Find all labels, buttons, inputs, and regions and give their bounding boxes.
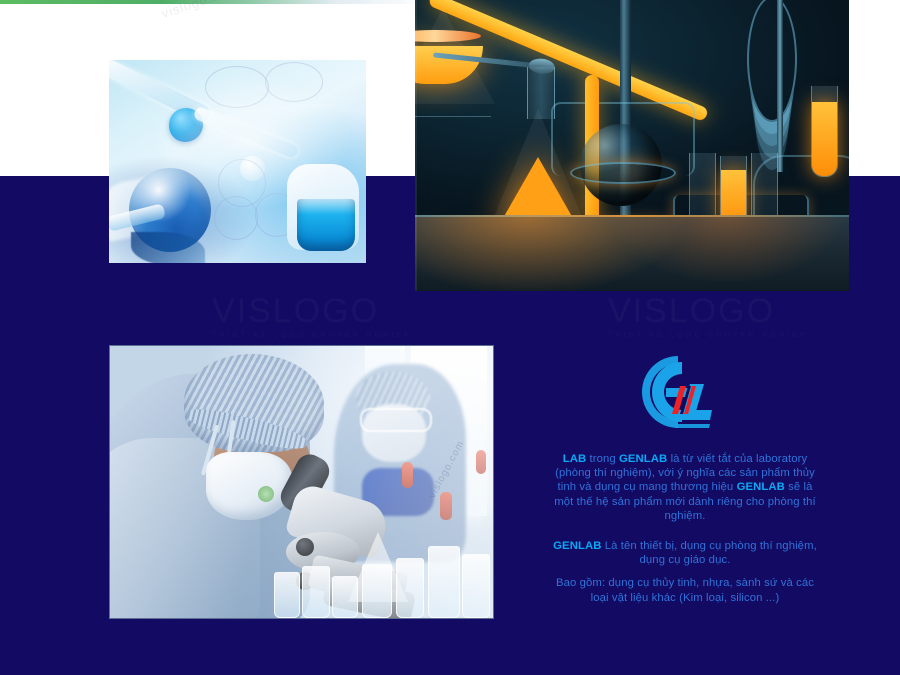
watermark-tagline-left: THIET KE LOGO CHUYEN NGHIEP [212, 332, 412, 339]
test-tube-filled [811, 86, 838, 177]
coil-support-rod [777, 0, 783, 172]
body-text-run: Là tên thiết bị, dụng cụ phòng thí nghiệ… [601, 540, 816, 566]
brand-board-canvas: vislogo.com vislogo.com VISLOGO THIET KE… [0, 0, 900, 675]
photo-glow-overlay [109, 60, 366, 263]
watermark-tagline-right: THIET KE LOGO CHUYEN NGHIEP [608, 332, 808, 339]
paragraph-product-scope: Bao gồm: dụng cụ thủy tinh, nhựa, sành s… [548, 576, 822, 604]
lab-bench [415, 215, 849, 291]
brand-keyword: GENLAB [737, 481, 785, 493]
watermark-brand-right: VISLOGO THIET KE LOGO CHUYEN NGHIEP [608, 292, 808, 339]
photo-top-left [109, 60, 366, 263]
condenser-coil [747, 0, 797, 122]
paragraph-lab-meaning: LAB trong GENLAB là từ viết tắt của labo… [548, 452, 822, 523]
erlenmeyer-neck [527, 67, 555, 119]
body-text-run: Bao gồm: dụng cụ thủy tinh, nhựa, sành s… [556, 577, 814, 603]
brand-keyword: GENLAB [619, 453, 667, 465]
brand-keyword: LAB [563, 453, 587, 465]
brand-keyword: GENLAB [553, 540, 601, 552]
photo-edge [415, 0, 417, 291]
watermark-brand-left: VISLOGO THIET KE LOGO CHUYEN NGHIEP [212, 292, 412, 339]
photo-top-right [415, 0, 849, 291]
paragraph-genlab-definition: GENLAB Là tên thiết bị, dụng cụ phòng th… [548, 539, 822, 567]
watermark-brand-right-text: VISLOGO [608, 292, 775, 330]
photo-bottom-left: vislogo.com [109, 345, 494, 619]
watermark-brand-left-text: VISLOGO [212, 292, 379, 330]
body-text-run: trong [586, 453, 619, 465]
brand-description-text: LAB trong GENLAB là từ viết tắt của labo… [548, 452, 822, 605]
genlab-logo [620, 348, 720, 436]
tube-liquid [812, 102, 837, 176]
